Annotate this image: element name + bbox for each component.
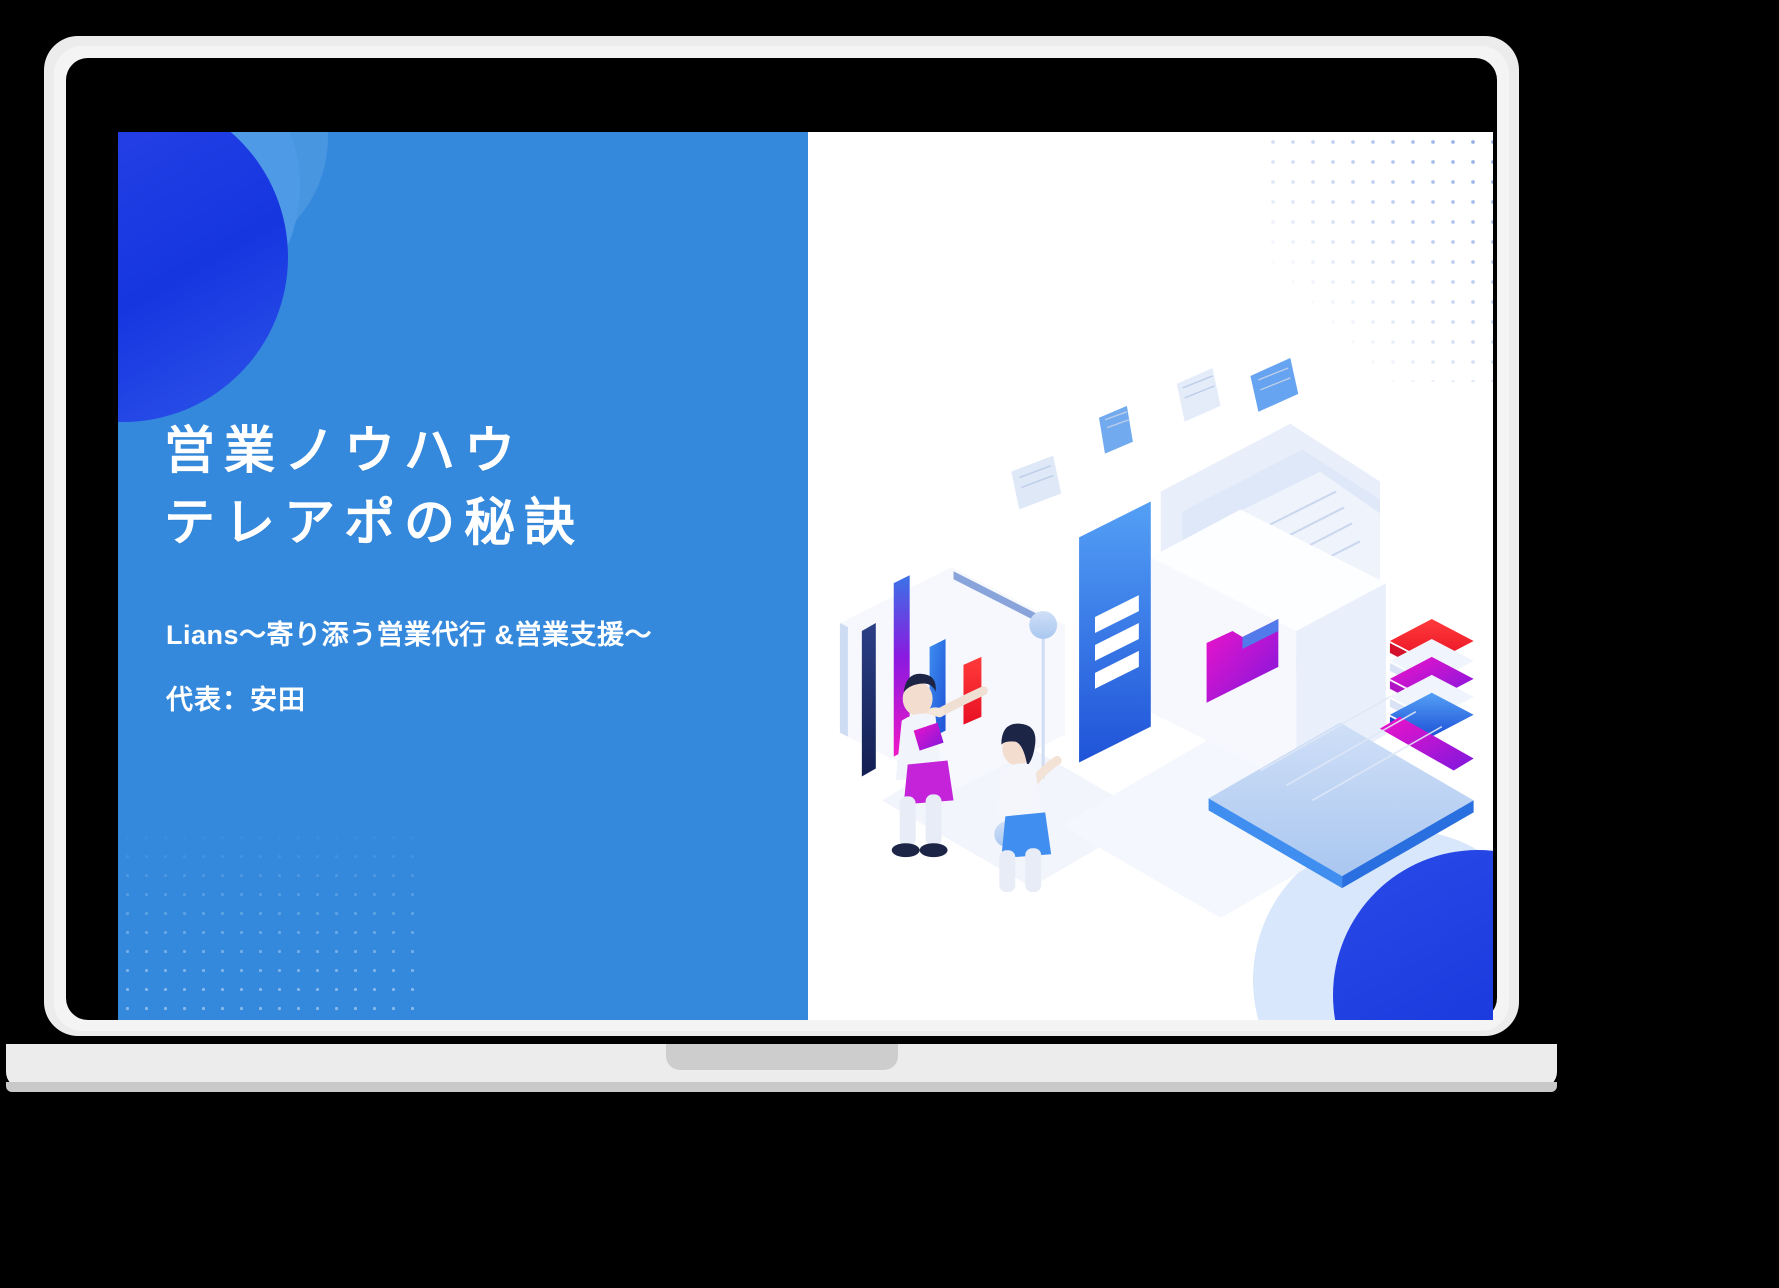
isometric-illustration-svg: [822, 247, 1480, 975]
slide-title-line-1: 営業ノウハウ: [164, 418, 788, 484]
screenshot-canvas: 営業ノウハウ テレアポの秘訣 Lians〜寄り添う営業代行 &営業支援〜 代表：…: [0, 0, 1779, 1288]
isometric-illustration: [808, 132, 1493, 1020]
laptop-base-shadow: [6, 1082, 1557, 1092]
laptop-mockup: 営業ノウハウ テレアポの秘訣 Lians〜寄り添う営業代行 &営業支援〜 代表：…: [44, 36, 1519, 1226]
slide-text-block: 営業ノウハウ テレアポの秘訣 Lians〜寄り添う営業代行 &営業支援〜 代表：…: [164, 418, 788, 720]
laptop-base-notch: [666, 1044, 898, 1070]
laptop-shell: 営業ノウハウ テレアポの秘訣 Lians〜寄り添う営業代行 &営業支援〜 代表：…: [44, 36, 1519, 1036]
laptop-base-top-edge: [6, 1036, 1557, 1044]
slide-left-panel: 営業ノウハウ テレアポの秘訣 Lians〜寄り添う営業代行 &営業支援〜 代表：…: [118, 132, 808, 1020]
laptop-base: [6, 1036, 1557, 1088]
decorative-dot-pattern-bottom-left: [118, 790, 418, 1020]
slide-title-line-2: テレアポの秘訣: [164, 490, 788, 556]
slide-right-panel: [808, 132, 1493, 1020]
slide-subtitle-presenter: 代表：安田: [166, 682, 788, 720]
blue-panel-with-lines: [1079, 502, 1151, 763]
slide-subtitle-company: Lians〜寄り添う営業代行 &営業支援〜: [166, 617, 788, 655]
laptop-bezel: 営業ノウハウ テレアポの秘訣 Lians〜寄り添う営業代行 &営業支援〜 代表：…: [66, 58, 1497, 1020]
presentation-slide: 営業ノウハウ テレアポの秘訣 Lians〜寄り添う営業代行 &営業支援〜 代表：…: [118, 132, 1493, 1020]
decorative-circle-deep-blue: [118, 132, 288, 422]
laptop-screen: 営業ノウハウ テレアポの秘訣 Lians〜寄り添う営業代行 &営業支援〜 代表：…: [118, 132, 1493, 1020]
